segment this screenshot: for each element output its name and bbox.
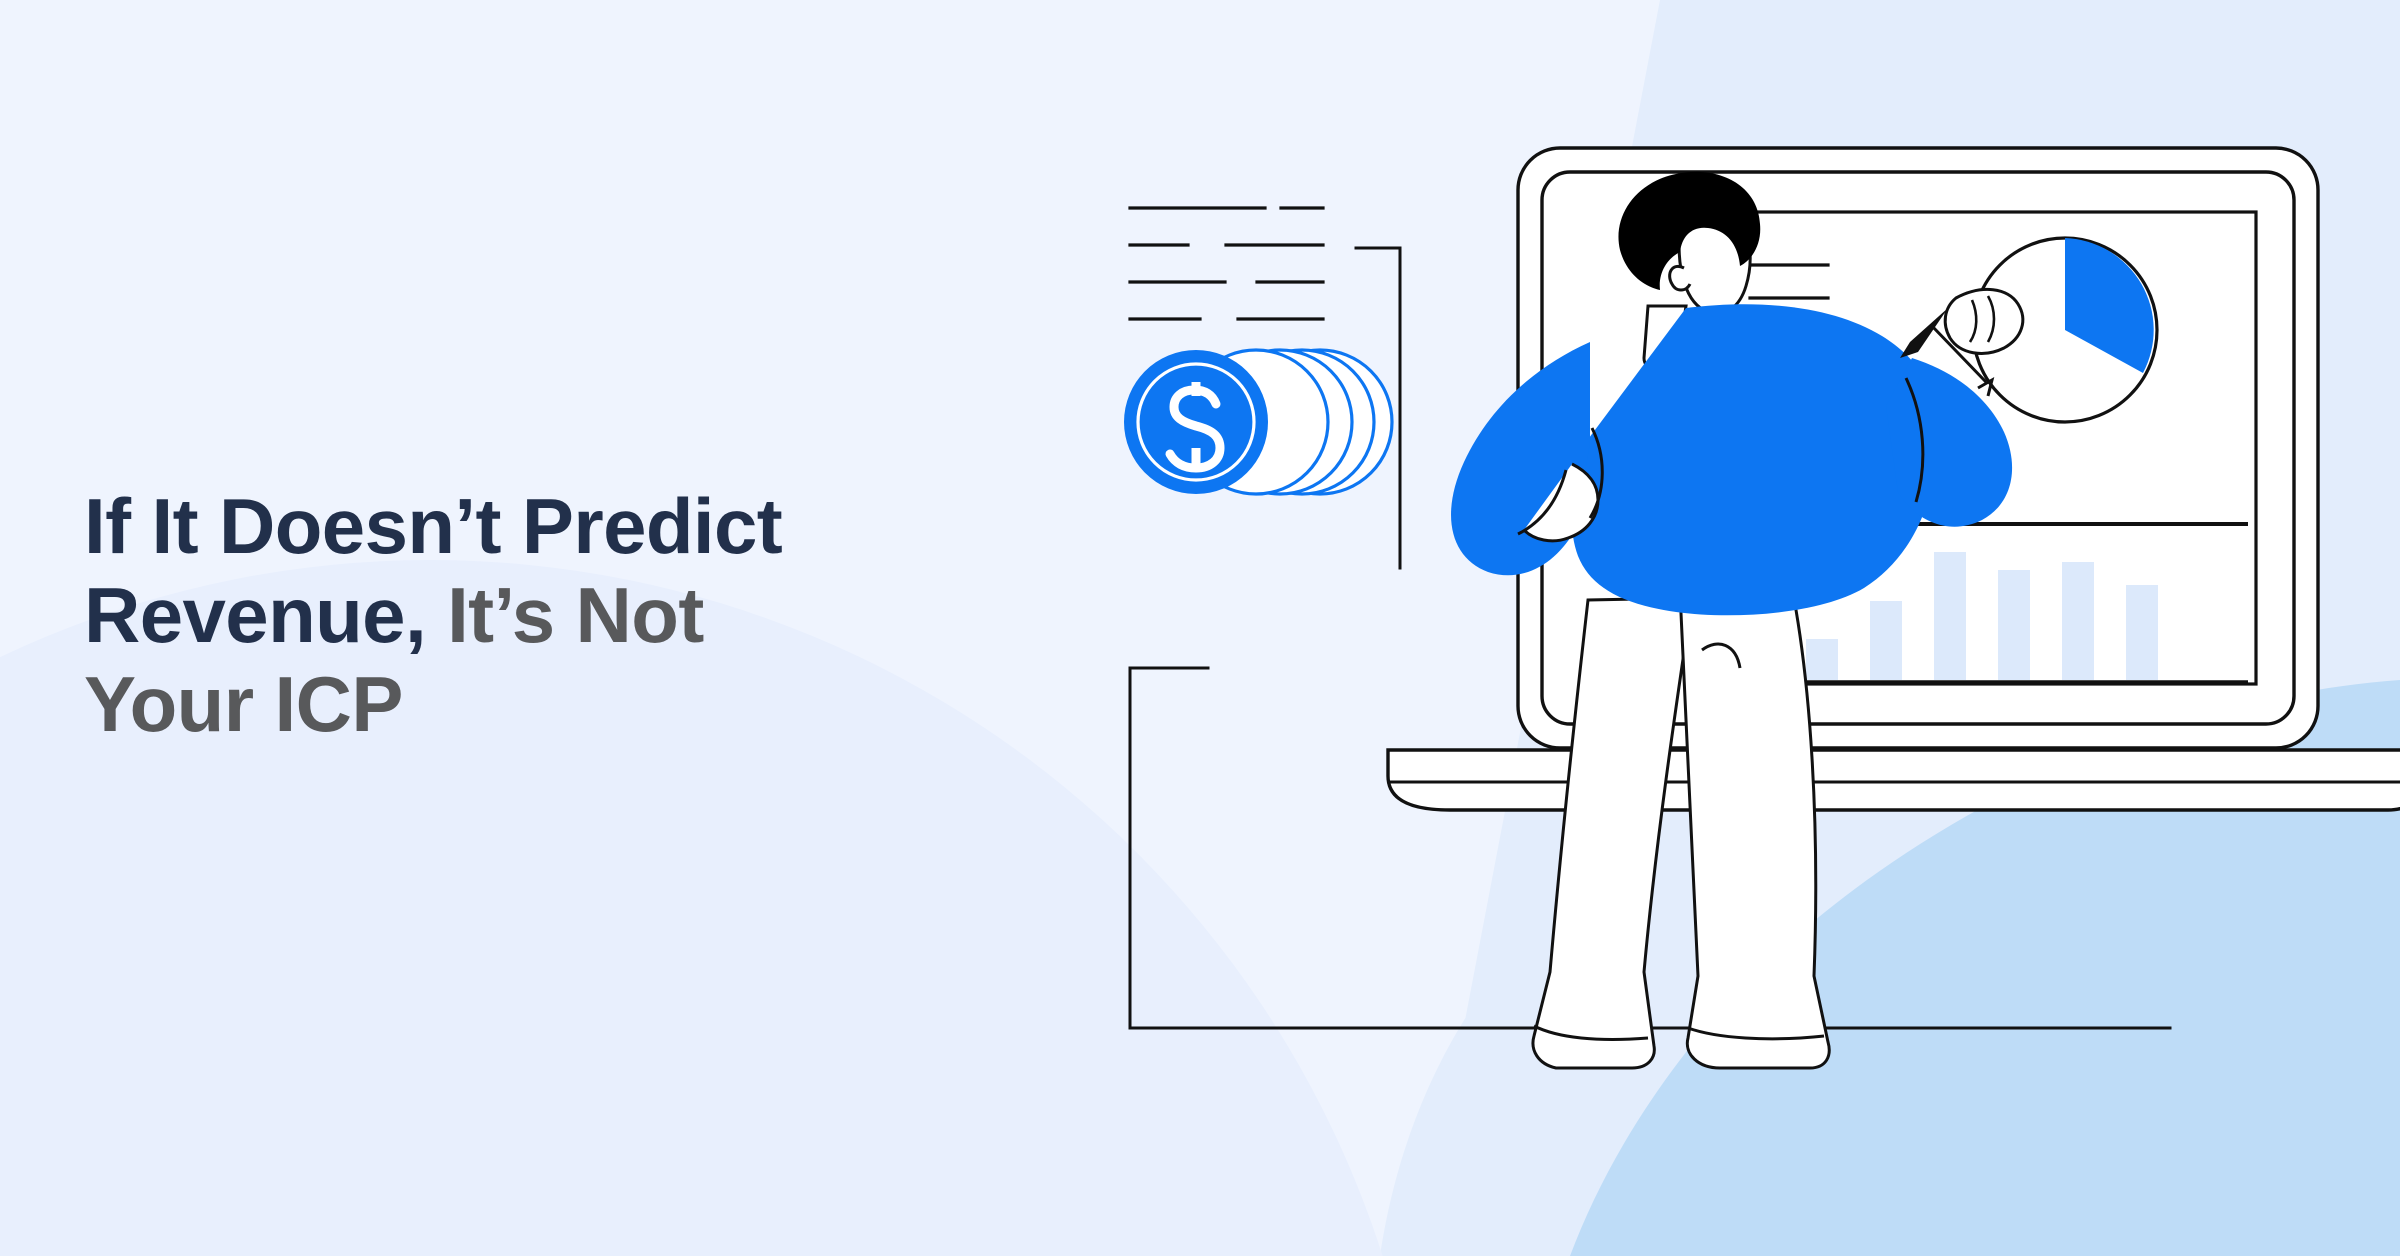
bar-6	[2062, 562, 2094, 680]
headline-line-2-dark: Revenue,	[84, 571, 426, 659]
bar-2	[1806, 639, 1838, 680]
bar-4	[1934, 552, 1966, 680]
decor-text-lines	[1130, 208, 1323, 319]
hero-banner: If It Doesn’t Predict Revenue, It’s Not …	[0, 0, 2400, 1256]
bar-3	[1870, 601, 1902, 680]
bar-5	[1998, 570, 2030, 680]
headline-line-3: Your ICP	[84, 660, 1184, 749]
coin-stack	[1124, 350, 1392, 494]
hero-illustration	[1120, 120, 2400, 1140]
person-hand-pen	[1945, 289, 2023, 353]
headline-line-2-gray: It’s Not	[426, 571, 704, 659]
bar-7	[2126, 585, 2158, 680]
headline-line-2: Revenue, It’s Not	[84, 571, 1184, 660]
headline-line-1: If It Doesn’t Predict	[84, 482, 1184, 571]
monitor-base	[1388, 750, 2400, 810]
page-title: If It Doesn’t Predict Revenue, It’s Not …	[84, 482, 1184, 749]
